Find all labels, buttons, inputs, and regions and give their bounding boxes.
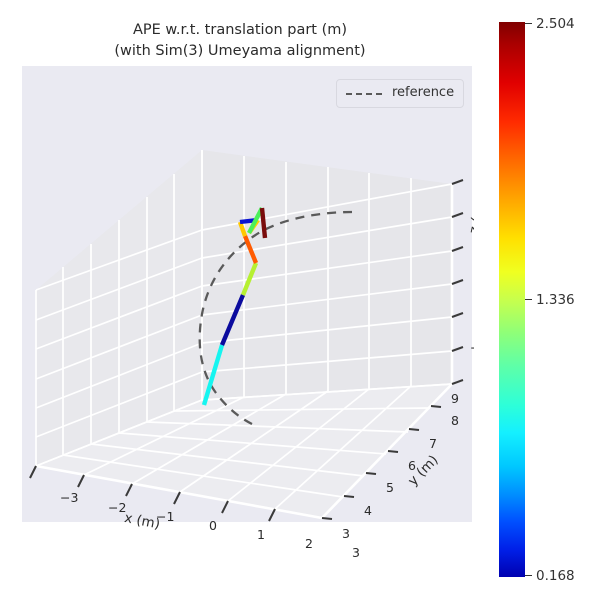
legend-reference-line-icon: [346, 93, 382, 95]
x-tick-label-0: −3: [60, 490, 78, 505]
colorbar-tick-mark-max: [525, 23, 532, 24]
colorbar-tick-label-max: 2.504: [536, 16, 575, 32]
x-tick-label-5: 2: [305, 536, 313, 551]
figure-canvas: APE w.r.t. translation part (m) (with Si…: [0, 0, 600, 600]
x-tick-label-3: 0: [209, 518, 217, 533]
scene-svg: [22, 66, 472, 522]
y-tick-label-6: 9: [451, 391, 459, 406]
page-title: APE w.r.t. translation part (m) (with Si…: [0, 20, 480, 61]
y-tick-label-4: 7: [429, 436, 437, 451]
y-tick-label-0: 3: [342, 526, 350, 541]
colorbar-tick-mark-min: [525, 575, 532, 576]
colorbar-tick-mark-mid: [525, 299, 532, 300]
y-tick-label-5: 8: [451, 413, 459, 428]
colorbar[interactable]: 2.504 1.336 0.168: [499, 22, 525, 577]
legend-item-label: reference: [392, 85, 454, 100]
y-tick-label-2: 5: [386, 480, 394, 495]
colorbar-gradient: [499, 22, 525, 577]
pane-right: [202, 150, 452, 400]
plot-axes-3d: −3 −2 −1 0 1 2 3 3 4 5 6 7 8 9 −1 0 1 2 …: [22, 66, 472, 522]
colorbar-tick-label-min: 0.168: [536, 568, 575, 584]
colorbar-tick-label-mid: 1.336: [536, 292, 575, 308]
x-tick-label-1: −2: [108, 500, 126, 515]
legend[interactable]: reference: [336, 79, 464, 108]
y-tick-label-1: 4: [364, 503, 372, 518]
x-tick-label-6: 3: [352, 545, 360, 560]
x-tick-label-4: 1: [257, 527, 265, 542]
